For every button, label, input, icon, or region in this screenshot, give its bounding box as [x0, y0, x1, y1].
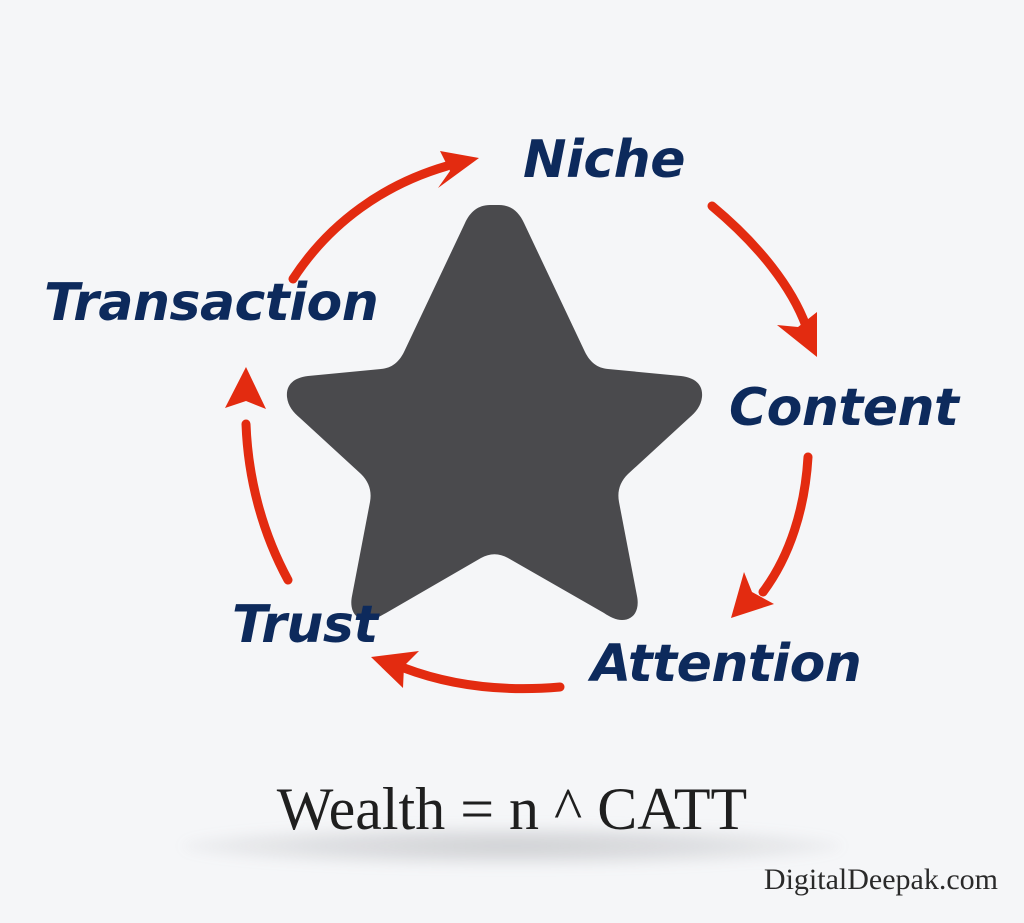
cycle-label-niche[interactable]: Niche — [523, 134, 685, 186]
arrow-niche-to-content — [712, 206, 817, 357]
cycle-label-content[interactable]: Content — [729, 382, 958, 434]
arrow-attention-to-trust — [371, 651, 560, 689]
formula-text: Wealth = n ^ CATT — [0, 779, 1024, 839]
arrow-content-to-attention — [731, 457, 808, 618]
cycle-label-attention[interactable]: Attention — [591, 638, 861, 690]
arrow-trust-to-transaction — [225, 367, 288, 580]
attribution-text: DigitalDeepak.com — [764, 865, 998, 895]
diagram-canvas: Niche Content Attention Trust Transactio… — [0, 0, 1024, 923]
star-icon — [287, 205, 702, 620]
cycle-label-trust[interactable]: Trust — [232, 599, 378, 651]
cycle-label-transaction[interactable]: Transaction — [44, 277, 378, 329]
